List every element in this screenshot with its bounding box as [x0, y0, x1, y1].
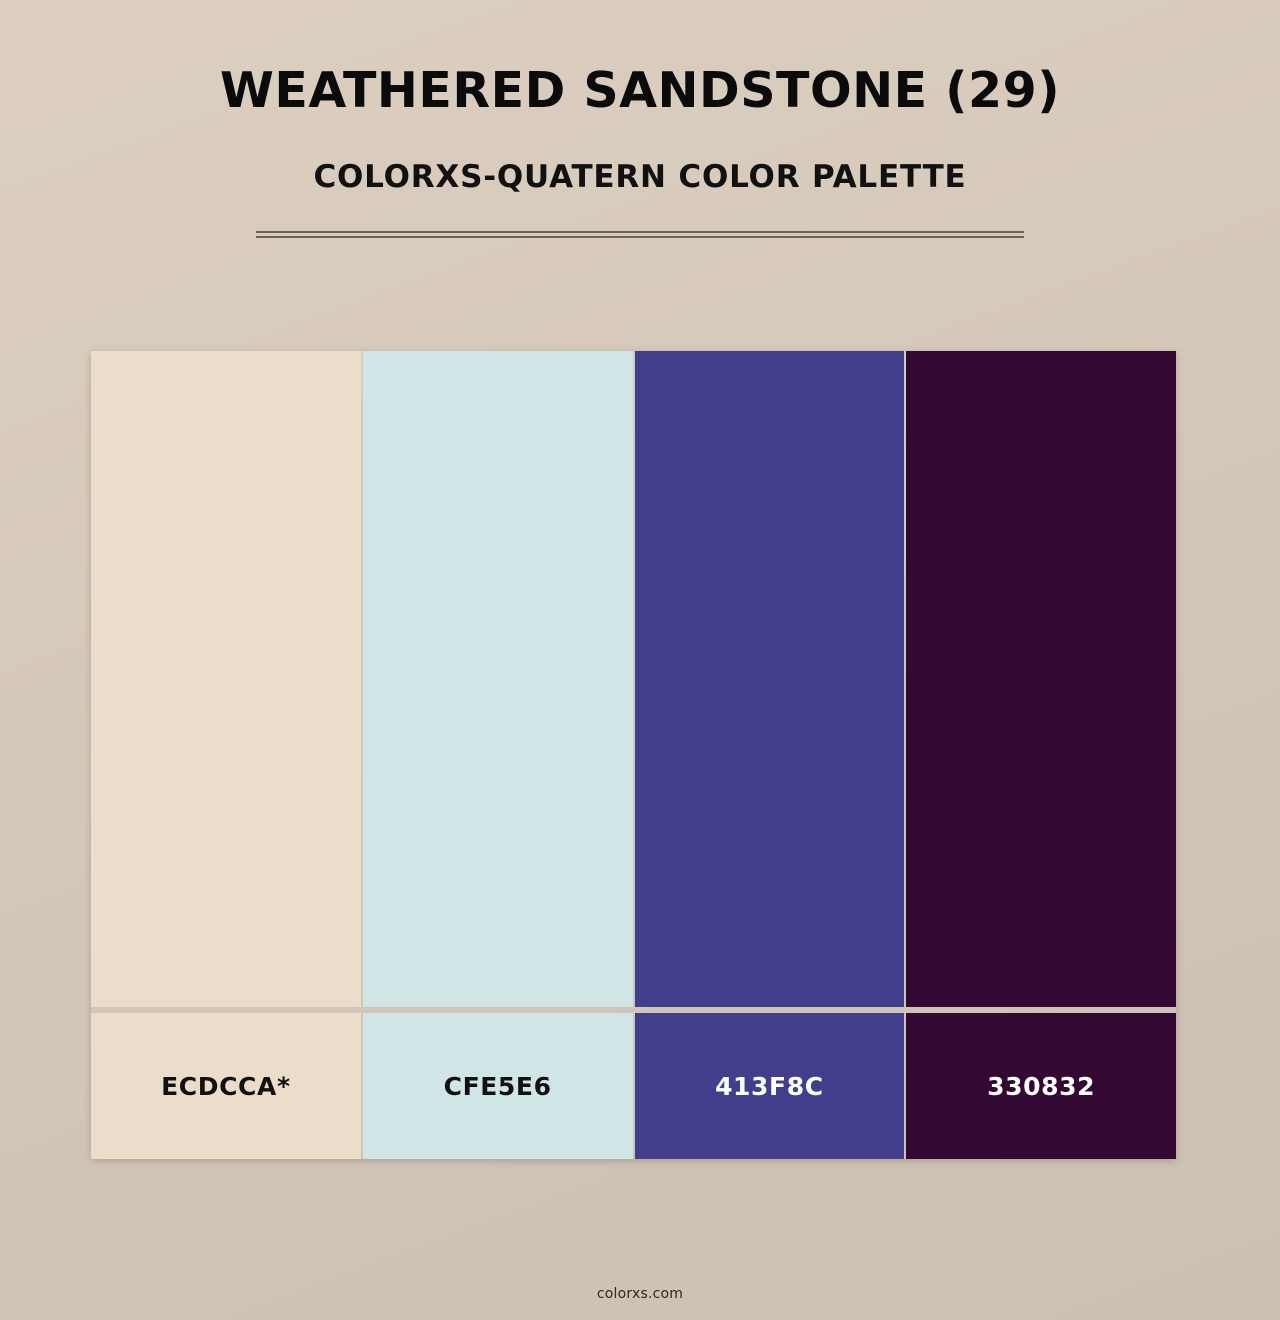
color-palette: ECDCCA* CFE5E6 413F8C 330832	[91, 351, 1176, 1159]
color-label-cell[interactable]: 413F8C	[635, 1013, 905, 1159]
color-hex-label: 413F8C	[715, 1072, 824, 1101]
header-divider	[256, 231, 1024, 238]
color-swatch[interactable]	[91, 351, 361, 1007]
swatch-label-row: ECDCCA* CFE5E6 413F8C 330832	[91, 1013, 1176, 1159]
color-swatch[interactable]	[363, 351, 633, 1007]
color-label-cell[interactable]: ECDCCA*	[91, 1013, 361, 1159]
divider-line-bottom	[256, 236, 1024, 238]
site-credit: colorxs.com	[597, 1286, 683, 1302]
page-root: WEATHERED SANDSTONE (29) COLORXS-QUATERN…	[0, 0, 1280, 1320]
color-hex-label: CFE5E6	[444, 1072, 552, 1101]
footer: colorxs.com	[0, 1283, 1280, 1302]
swatch-row	[91, 351, 1176, 1007]
color-label-cell[interactable]: 330832	[906, 1013, 1176, 1159]
color-swatch[interactable]	[635, 351, 905, 1007]
color-hex-label: 330832	[987, 1072, 1095, 1101]
header: WEATHERED SANDSTONE (29) COLORXS-QUATERN…	[0, 0, 1280, 195]
color-swatch[interactable]	[906, 351, 1176, 1007]
divider-line-top	[256, 231, 1024, 233]
page-subtitle: COLORXS-QUATERN COLOR PALETTE	[0, 115, 1280, 195]
color-label-cell[interactable]: CFE5E6	[363, 1013, 633, 1159]
color-hex-label: ECDCCA*	[161, 1072, 291, 1101]
page-title: WEATHERED SANDSTONE (29)	[0, 66, 1280, 115]
